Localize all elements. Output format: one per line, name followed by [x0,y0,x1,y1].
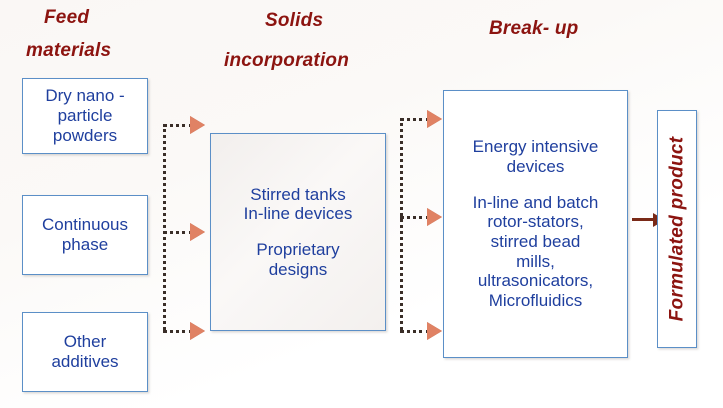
connector-bus-feed-to-solids [163,124,166,330]
arrowhead-feed-to-solids-3 [190,322,205,340]
feed-box-1-line-1: Dry nano - [45,86,124,106]
breakup-line-8: Microfluidics [473,291,599,311]
solids-line-3: Proprietary [256,240,339,260]
breakup-line-2: devices [473,157,599,177]
feed-box-other-additives[interactable]: Other additives [22,312,148,392]
breakup-line-7: ultrasonicators, [473,271,599,291]
header-solids-incorporation-line1: Solids [265,11,323,30]
arrowhead-solids-to-breakup-3 [427,322,442,340]
connector-bus-solids-to-breakup [400,118,403,330]
breakup-group-2: In-line and batch rotor-stators, stirred… [473,193,599,311]
solids-line-2: In-line devices [244,204,353,224]
header-break-up: Break- up [489,19,578,38]
breakup-group-1: Energy intensive devices [473,137,599,176]
arrowhead-feed-to-solids-2 [190,223,205,241]
connector-branch-feed-1 [163,124,193,127]
feed-box-2-line-1: Continuous [42,215,128,235]
process-flow-diagram: Feed materials Solids incorporation Brea… [0,0,723,408]
breakup-line-1: Energy intensive [473,137,599,157]
connector-branch-feed-2 [163,231,193,234]
solids-group-1: Stirred tanks In-line devices [244,185,353,224]
connector-branch-breakup-3 [400,330,430,333]
solids-line-1: Stirred tanks [244,185,353,205]
break-up-box[interactable]: Energy intensive devices In-line and bat… [443,90,628,358]
breakup-line-6: mills, [473,252,599,272]
feed-box-1-line-2: particle [58,106,113,126]
formulated-product-label: Formulated product [666,137,688,322]
solids-incorporation-box[interactable]: Stirred tanks In-line devices Proprietar… [210,133,386,331]
breakup-line-3: In-line and batch [473,193,599,213]
breakup-line-4: rotor-stators, [473,212,599,232]
feed-box-continuous-phase[interactable]: Continuous phase [22,195,148,275]
connector-branch-breakup-1 [400,118,430,121]
feed-box-3-line-1: Other [64,332,107,352]
feed-box-1-line-3: powders [53,126,117,146]
breakup-line-5: stirred bead [473,232,599,252]
arrowhead-feed-to-solids-1 [190,116,205,134]
feed-box-dry-nanoparticle-powders[interactable]: Dry nano - particle powders [22,78,148,154]
arrowhead-solids-to-breakup-1 [427,110,442,128]
formulated-product-box[interactable]: Formulated product [657,110,697,348]
solids-group-2: Proprietary designs [256,240,339,279]
connector-branch-feed-3 [163,330,193,333]
feed-box-3-line-2: additives [51,352,118,372]
header-solids-incorporation-line2: incorporation [224,51,349,70]
solids-line-4: designs [256,260,339,280]
connector-branch-breakup-2 [400,216,430,219]
header-feed-materials-line1: Feed [44,8,89,27]
arrowhead-solids-to-breakup-2 [427,208,442,226]
feed-box-2-line-2: phase [62,235,108,255]
header-feed-materials-line2: materials [26,41,111,60]
